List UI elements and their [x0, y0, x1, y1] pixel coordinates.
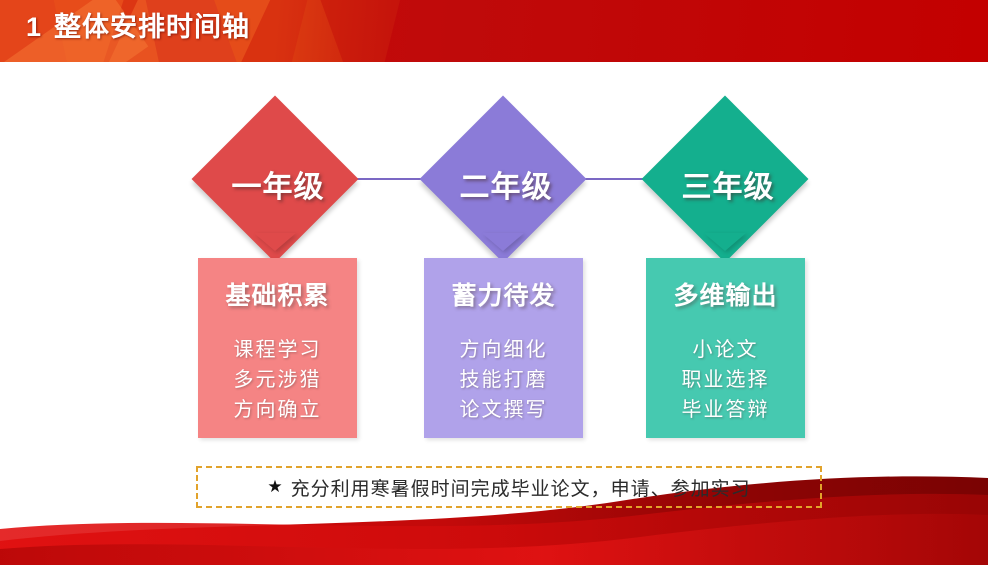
timeline-diamond-label-2: 二年级: [426, 162, 586, 206]
list-item: 技能打磨: [424, 364, 583, 394]
slide-body: 一年级 二年级 三年级 基础积累 课程学习 多元涉猎 方向确立 蓄力待发 方向细…: [0, 62, 988, 565]
stage-card-title-1: 基础积累: [198, 276, 357, 312]
list-item: 方向确立: [198, 394, 357, 424]
stage-card-title-2: 蓄力待发: [424, 276, 583, 312]
list-item: 多元涉猎: [198, 364, 357, 394]
list-item: 论文撰写: [424, 394, 583, 424]
stage-card-title-3: 多维输出: [646, 276, 805, 312]
timeline-diamond-label-1: 一年级: [198, 162, 358, 206]
down-arrow-icon-2: [482, 233, 524, 251]
list-item: 小论文: [646, 334, 805, 364]
stage-card-items-3: 小论文 职业选择 毕业答辩: [646, 334, 805, 424]
stage-card-items-2: 方向细化 技能打磨 论文撰写: [424, 334, 583, 424]
star-icon: ★: [267, 477, 282, 497]
down-arrow-icon-1: [254, 233, 296, 251]
down-arrow-icon-3: [704, 233, 746, 251]
timeline-diamond-label-3: 三年级: [648, 162, 808, 206]
page-title-number: 1: [26, 12, 42, 42]
list-item: 方向细化: [424, 334, 583, 364]
list-item: 职业选择: [646, 364, 805, 394]
page-title: 1整体安排时间轴: [26, 5, 250, 44]
list-item: 课程学习: [198, 334, 357, 364]
stage-card-year-1[interactable]: 基础积累 课程学习 多元涉猎 方向确立: [198, 258, 357, 438]
stage-card-items-1: 课程学习 多元涉猎 方向确立: [198, 334, 357, 424]
page-title-text: 整体安排时间轴: [54, 12, 250, 42]
stage-card-year-2[interactable]: 蓄力待发 方向细化 技能打磨 论文撰写: [424, 258, 583, 438]
footnote-text: 充分利用寒暑假时间完成毕业论文，申请、参加实习: [291, 474, 751, 501]
stage-card-year-3[interactable]: 多维输出 小论文 职业选择 毕业答辩: [646, 258, 805, 438]
footnote-box: ★ 充分利用寒暑假时间完成毕业论文，申请、参加实习: [196, 466, 822, 508]
list-item: 毕业答辩: [646, 394, 805, 424]
slide-header-banner: 1整体安排时间轴: [0, 0, 988, 62]
